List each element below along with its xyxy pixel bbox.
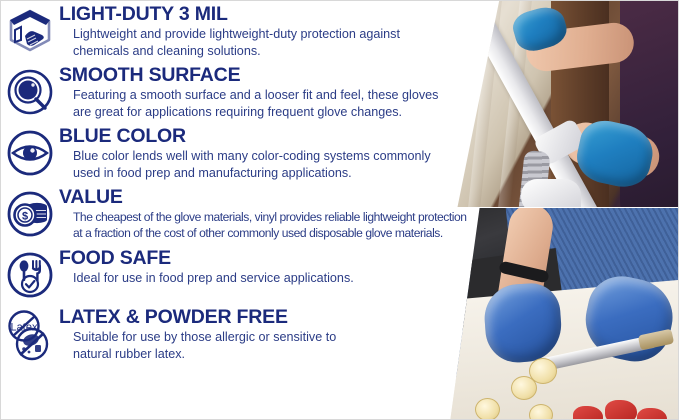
feature-title: VALUE xyxy=(59,187,515,208)
feature-text: VALUE The cheapest of the glove material… xyxy=(59,187,521,241)
feature-text: LIGHT-DUTY 3 MIL Lightweight and provide… xyxy=(59,4,521,59)
feature-item-smooth-surface: SMOOTH SURFACE Featuring a smooth surfac… xyxy=(1,65,521,122)
banana-slice xyxy=(529,404,553,420)
feature-body: Suitable for use by those allergic or se… xyxy=(73,329,515,362)
feature-title: LATEX & POWDER FREE xyxy=(59,307,515,328)
feature-body-line: Ideal for use in food prep and service a… xyxy=(73,270,515,287)
vacuum-nozzle xyxy=(521,179,581,207)
feature-text: LATEX & POWDER FREE Suitable for use by … xyxy=(59,307,521,362)
banana-slice xyxy=(475,398,500,420)
feature-item-value: $ VALUE The cheapest of the glove materi… xyxy=(1,187,521,243)
feature-text: FOOD SAFE Ideal for use in food prep and… xyxy=(59,248,521,287)
feature-title: BLUE COLOR xyxy=(59,126,515,147)
feature-body-line: are great for applications requiring fre… xyxy=(73,104,515,121)
feature-body: The cheapest of the glove materials, vin… xyxy=(73,209,515,241)
coins-dollar-icon: $ xyxy=(1,187,59,239)
feature-item-light-duty: LIGHT-DUTY 3 MIL Lightweight and provide… xyxy=(1,4,521,61)
box-hand-icon xyxy=(1,4,59,56)
feature-body-line: used in food prep and manufacturing appl… xyxy=(73,165,515,182)
feature-body-line: at a fraction of the cost of other commo… xyxy=(73,225,515,241)
feature-body-line: Featuring a smooth surface and a looser … xyxy=(73,87,515,104)
banana-slice xyxy=(511,376,537,400)
feature-item-blue-color: BLUE COLOR Blue color lends well with ma… xyxy=(1,126,521,183)
eye-icon xyxy=(1,126,59,178)
dollar-glyph: $ xyxy=(22,210,28,222)
strawberry-slice xyxy=(605,400,637,420)
feature-body-line: The cheapest of the glove materials, vin… xyxy=(73,209,515,225)
feature-body-line: Lightweight and provide lightweight-duty… xyxy=(73,26,515,43)
feature-title: SMOOTH SURFACE xyxy=(59,65,515,86)
feature-list: LIGHT-DUTY 3 MIL Lightweight and provide… xyxy=(1,1,521,365)
magnifier-surface-icon xyxy=(1,65,59,117)
feature-title: LIGHT-DUTY 3 MIL xyxy=(59,4,515,25)
feature-item-latex-powder-free: Latex LATEX & POWDER FREE Suit xyxy=(1,307,521,365)
feature-body: Blue color lends well with many color-co… xyxy=(73,148,515,181)
feature-body-line: Blue color lends well with many color-co… xyxy=(73,148,515,165)
feature-item-food-safe: FOOD SAFE Ideal for use in food prep and… xyxy=(1,248,521,302)
no-latex-no-powder-icon: Latex xyxy=(1,307,59,363)
feature-body-line: chemicals and cleaning solutions. xyxy=(73,43,515,60)
feature-title: FOOD SAFE xyxy=(59,248,515,269)
feature-body: Featuring a smooth surface and a looser … xyxy=(73,87,515,120)
feature-body: Ideal for use in food prep and service a… xyxy=(73,270,515,287)
vinyl-glove-feature-infographic: LIGHT-DUTY 3 MIL Lightweight and provide… xyxy=(0,0,679,420)
fork-spoon-check-icon xyxy=(1,248,59,300)
feature-body-line: Suitable for use by those allergic or se… xyxy=(73,329,515,346)
feature-text: SMOOTH SURFACE Featuring a smooth surfac… xyxy=(59,65,521,120)
feature-body-line: natural rubber latex. xyxy=(73,346,515,363)
feature-text: BLUE COLOR Blue color lends well with ma… xyxy=(59,126,521,181)
feature-body: Lightweight and provide lightweight-duty… xyxy=(73,26,515,59)
